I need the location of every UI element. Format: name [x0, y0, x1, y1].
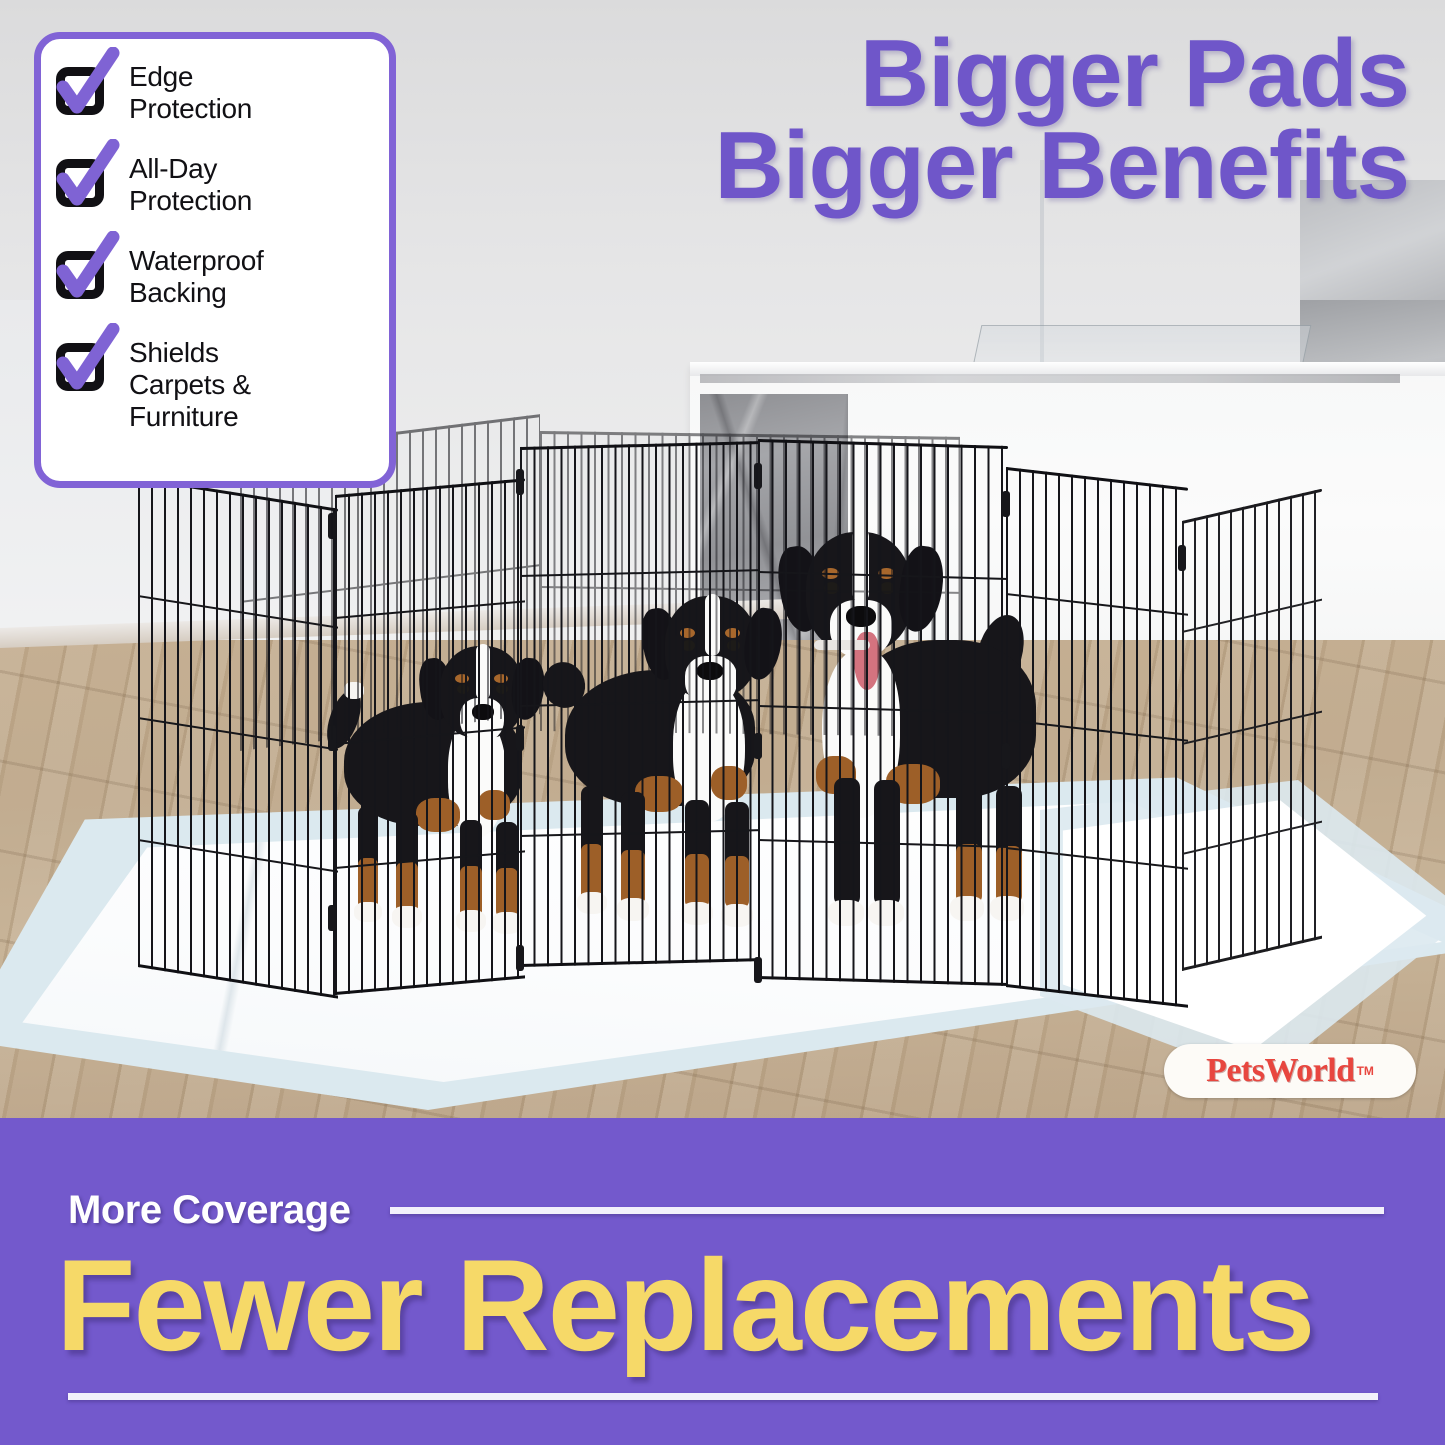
checkbox-checked-icon [53, 153, 115, 211]
banner-eyebrow: More Coverage [68, 1188, 350, 1233]
feature-label-line-1: All-Day [129, 153, 217, 184]
trademark-icon: TM [1357, 1064, 1374, 1078]
feature-label-line-1: Shields [129, 337, 219, 368]
feature-label-line-2: Backing [129, 277, 227, 308]
headline-line-1: Bigger Pads [715, 28, 1409, 120]
feature-list: EdgeProtection All-DayProtection [53, 55, 375, 433]
pen-panel-5 [1006, 467, 1188, 1008]
feature-label-line-1: Edge [129, 61, 193, 92]
feature-label-line-2: Carpets & [129, 369, 251, 400]
feature-label: WaterproofBacking [129, 239, 263, 309]
pen-panel-6 [1182, 489, 1322, 971]
kitchen-island-lip [700, 374, 1400, 383]
pen-hinge-9 [754, 957, 762, 983]
feature-label: EdgeProtection [129, 55, 252, 125]
checkbox-checked-icon [53, 61, 115, 119]
bottom-banner: More Coverage Fewer Replacements [0, 1118, 1445, 1445]
check-mark-icon [49, 139, 121, 213]
feature-label-line-2: Protection [129, 93, 252, 124]
wire-playpen [120, 425, 1250, 1045]
banner-headline: Fewer Replacements [56, 1240, 1396, 1370]
pen-hinge-10 [1002, 491, 1010, 517]
checkbox-checked-icon [53, 337, 115, 395]
pen-hinge-11 [1002, 743, 1010, 769]
feature-label: All-DayProtection [129, 147, 252, 217]
check-mark-icon [49, 231, 121, 305]
feature-label-line-3: Furniture [129, 401, 238, 432]
feature-label-line-1: Waterproof [129, 245, 263, 276]
pen-hinge-3 [328, 905, 336, 931]
brand-logo: PetsWorldTM [1164, 1044, 1416, 1098]
feature-item: ShieldsCarpets &Furniture [53, 331, 375, 433]
feature-item: EdgeProtection [53, 55, 375, 139]
feature-item: All-DayProtection [53, 147, 375, 231]
check-mark-icon [49, 47, 121, 121]
brand-logo-text: PetsWorld [1206, 1052, 1354, 1090]
headline: Bigger Pads Bigger Benefits [715, 28, 1409, 212]
pen-panel-back-2 [540, 431, 960, 737]
checkbox-checked-icon [53, 245, 115, 303]
pen-hinge-8 [754, 733, 762, 759]
check-mark-icon [49, 323, 121, 397]
pen-hinge-5 [516, 725, 524, 751]
pen-hinge-12 [1178, 545, 1186, 571]
product-photo-scene: PetsWorldTM Bigger Pads Bigger Benefits … [0, 0, 1445, 1118]
headline-line-2: Bigger Benefits [715, 120, 1409, 212]
product-infographic: PetsWorldTM Bigger Pads Bigger Benefits … [0, 0, 1445, 1445]
feature-card: EdgeProtection All-DayProtection [34, 32, 396, 488]
feature-label-line-2: Protection [129, 185, 252, 216]
pen-hinge-6 [516, 945, 524, 971]
banner-divider-top [390, 1207, 1384, 1214]
feature-label: ShieldsCarpets &Furniture [129, 331, 251, 433]
banner-eyebrow-row: More Coverage [68, 1188, 1388, 1233]
feature-item: WaterproofBacking [53, 239, 375, 323]
banner-divider-bottom [68, 1393, 1378, 1400]
